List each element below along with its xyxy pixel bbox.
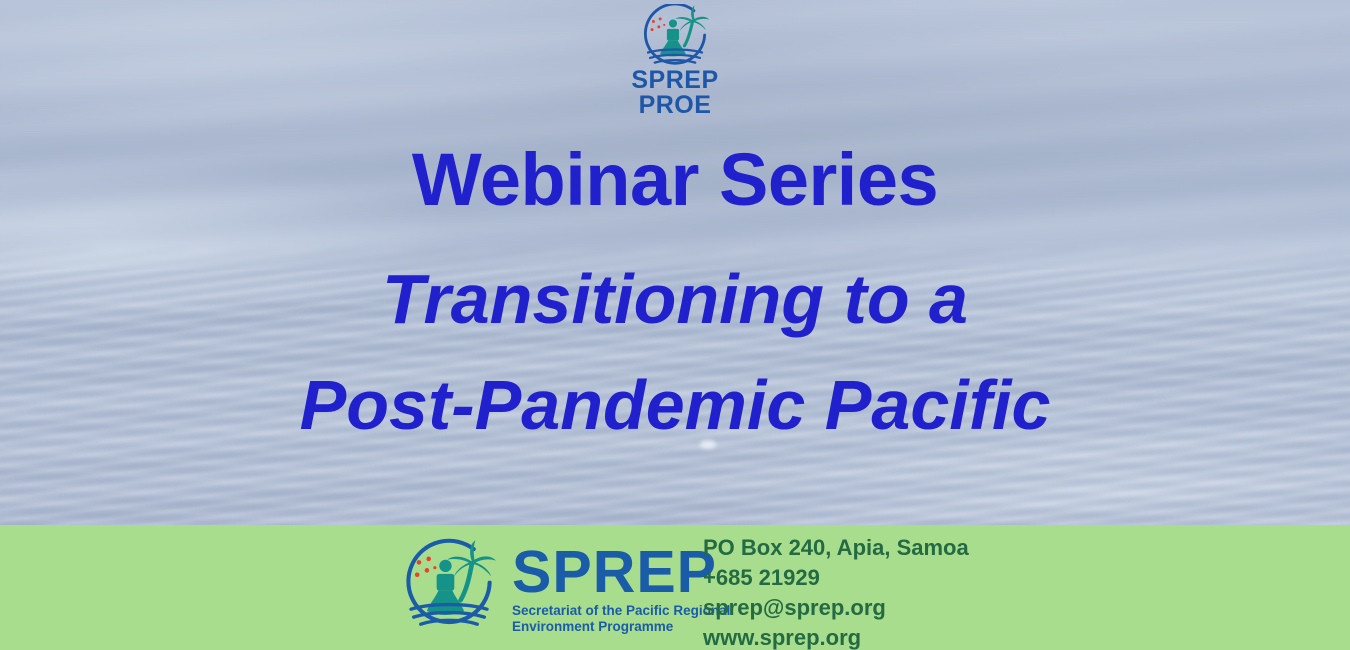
top-logo: SPREP PROE	[0, 4, 1350, 118]
contact-phone: +685 21929	[703, 563, 969, 593]
contact-email[interactable]: sprep@sprep.org	[703, 593, 969, 623]
contact-address: PO Box 240, Apia, Samoa	[703, 533, 969, 563]
footer-tagline-line2: Environment Programme	[512, 619, 730, 635]
top-logo-wordmark: SPREP PROE	[631, 68, 718, 118]
footer-wordmark: SPREP	[512, 544, 730, 600]
footer-tagline: Secretariat of the Pacific Regional Envi…	[512, 603, 730, 635]
subtitle-line-1: Transitioning to a	[0, 246, 1350, 352]
subtitle-line-2: Post-Pandemic Pacific	[0, 352, 1350, 458]
poster-canvas: SPREP PROE Webinar Series Transitioning …	[0, 0, 1350, 650]
contact-details: PO Box 240, Apia, Samoa +685 21929 sprep…	[703, 533, 969, 650]
sprep-island-palm-logo-icon	[632, 4, 718, 66]
page-title: Webinar Series	[0, 136, 1350, 224]
footer-logo-text: SPREP Secretariat of the Pacific Regiona…	[512, 540, 730, 635]
top-logo-wordmark-line1: SPREP	[631, 68, 718, 93]
top-logo-wordmark-line2: PROE	[631, 93, 718, 118]
headline-block: Webinar Series Transitioning to a Post-P…	[0, 136, 1350, 458]
footer-bar: SPREP Secretariat of the Pacific Regiona…	[0, 525, 1350, 650]
footer-tagline-line1: Secretariat of the Pacific Regional	[512, 603, 730, 619]
sprep-island-palm-logo-icon	[396, 536, 502, 640]
contact-website[interactable]: www.sprep.org	[703, 623, 969, 650]
footer-logo: SPREP Secretariat of the Pacific Regiona…	[396, 536, 730, 640]
